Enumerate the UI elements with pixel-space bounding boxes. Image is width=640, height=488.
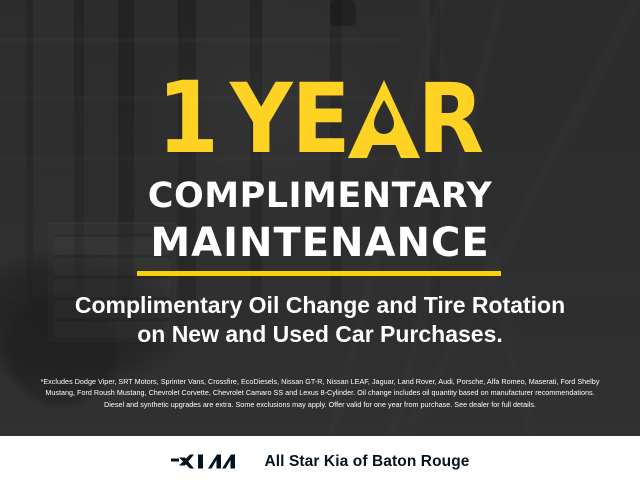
disclaimer-line-1: *Excludes Dodge Viper, SRT Motors, Sprin… xyxy=(16,376,624,387)
hero-content: 1 Y E R COMPLIMENTARY MAINTENANCE Compli… xyxy=(0,0,640,436)
yellow-divider-bar xyxy=(137,271,501,276)
promotional-banner: 1 Y E R COMPLIMENTARY MAINTENANCE Compli… xyxy=(0,0,640,488)
letter-e: E xyxy=(291,76,349,162)
letter-y: Y xyxy=(230,76,292,162)
dealer-footer: All Star Kia of Baton Rouge xyxy=(0,436,640,488)
offer-description-line1: Complimentary Oil Change and Tire Rotati… xyxy=(26,291,614,320)
headline-maintenance: MAINTENANCE xyxy=(0,222,640,264)
kia-logo-icon xyxy=(170,452,244,472)
disclaimer-line-2: Mustang, Ford Roush Mustang, Chevrolet C… xyxy=(16,387,624,398)
headline-primary: 1 Y E R xyxy=(0,76,640,162)
hero-section: 1 Y E R COMPLIMENTARY MAINTENANCE Compli… xyxy=(0,0,640,436)
legal-disclaimer: *Excludes Dodge Viper, SRT Motors, Sprin… xyxy=(16,376,624,410)
headline-number: 1 xyxy=(157,76,218,162)
letter-r: R xyxy=(418,76,484,162)
disclaimer-line-3: Diesel and synthetic upgrades are extra.… xyxy=(16,399,624,410)
offer-description: Complimentary Oil Change and Tire Rotati… xyxy=(26,291,614,349)
dealer-name: All Star Kia of Baton Rouge xyxy=(264,453,469,471)
oil-droplet-a-icon xyxy=(348,80,420,158)
headline-complimentary: COMPLIMENTARY xyxy=(0,178,640,214)
headline-year-word: Y E R xyxy=(230,76,483,162)
offer-description-line2: on New and Used Car Purchases. xyxy=(26,320,614,349)
